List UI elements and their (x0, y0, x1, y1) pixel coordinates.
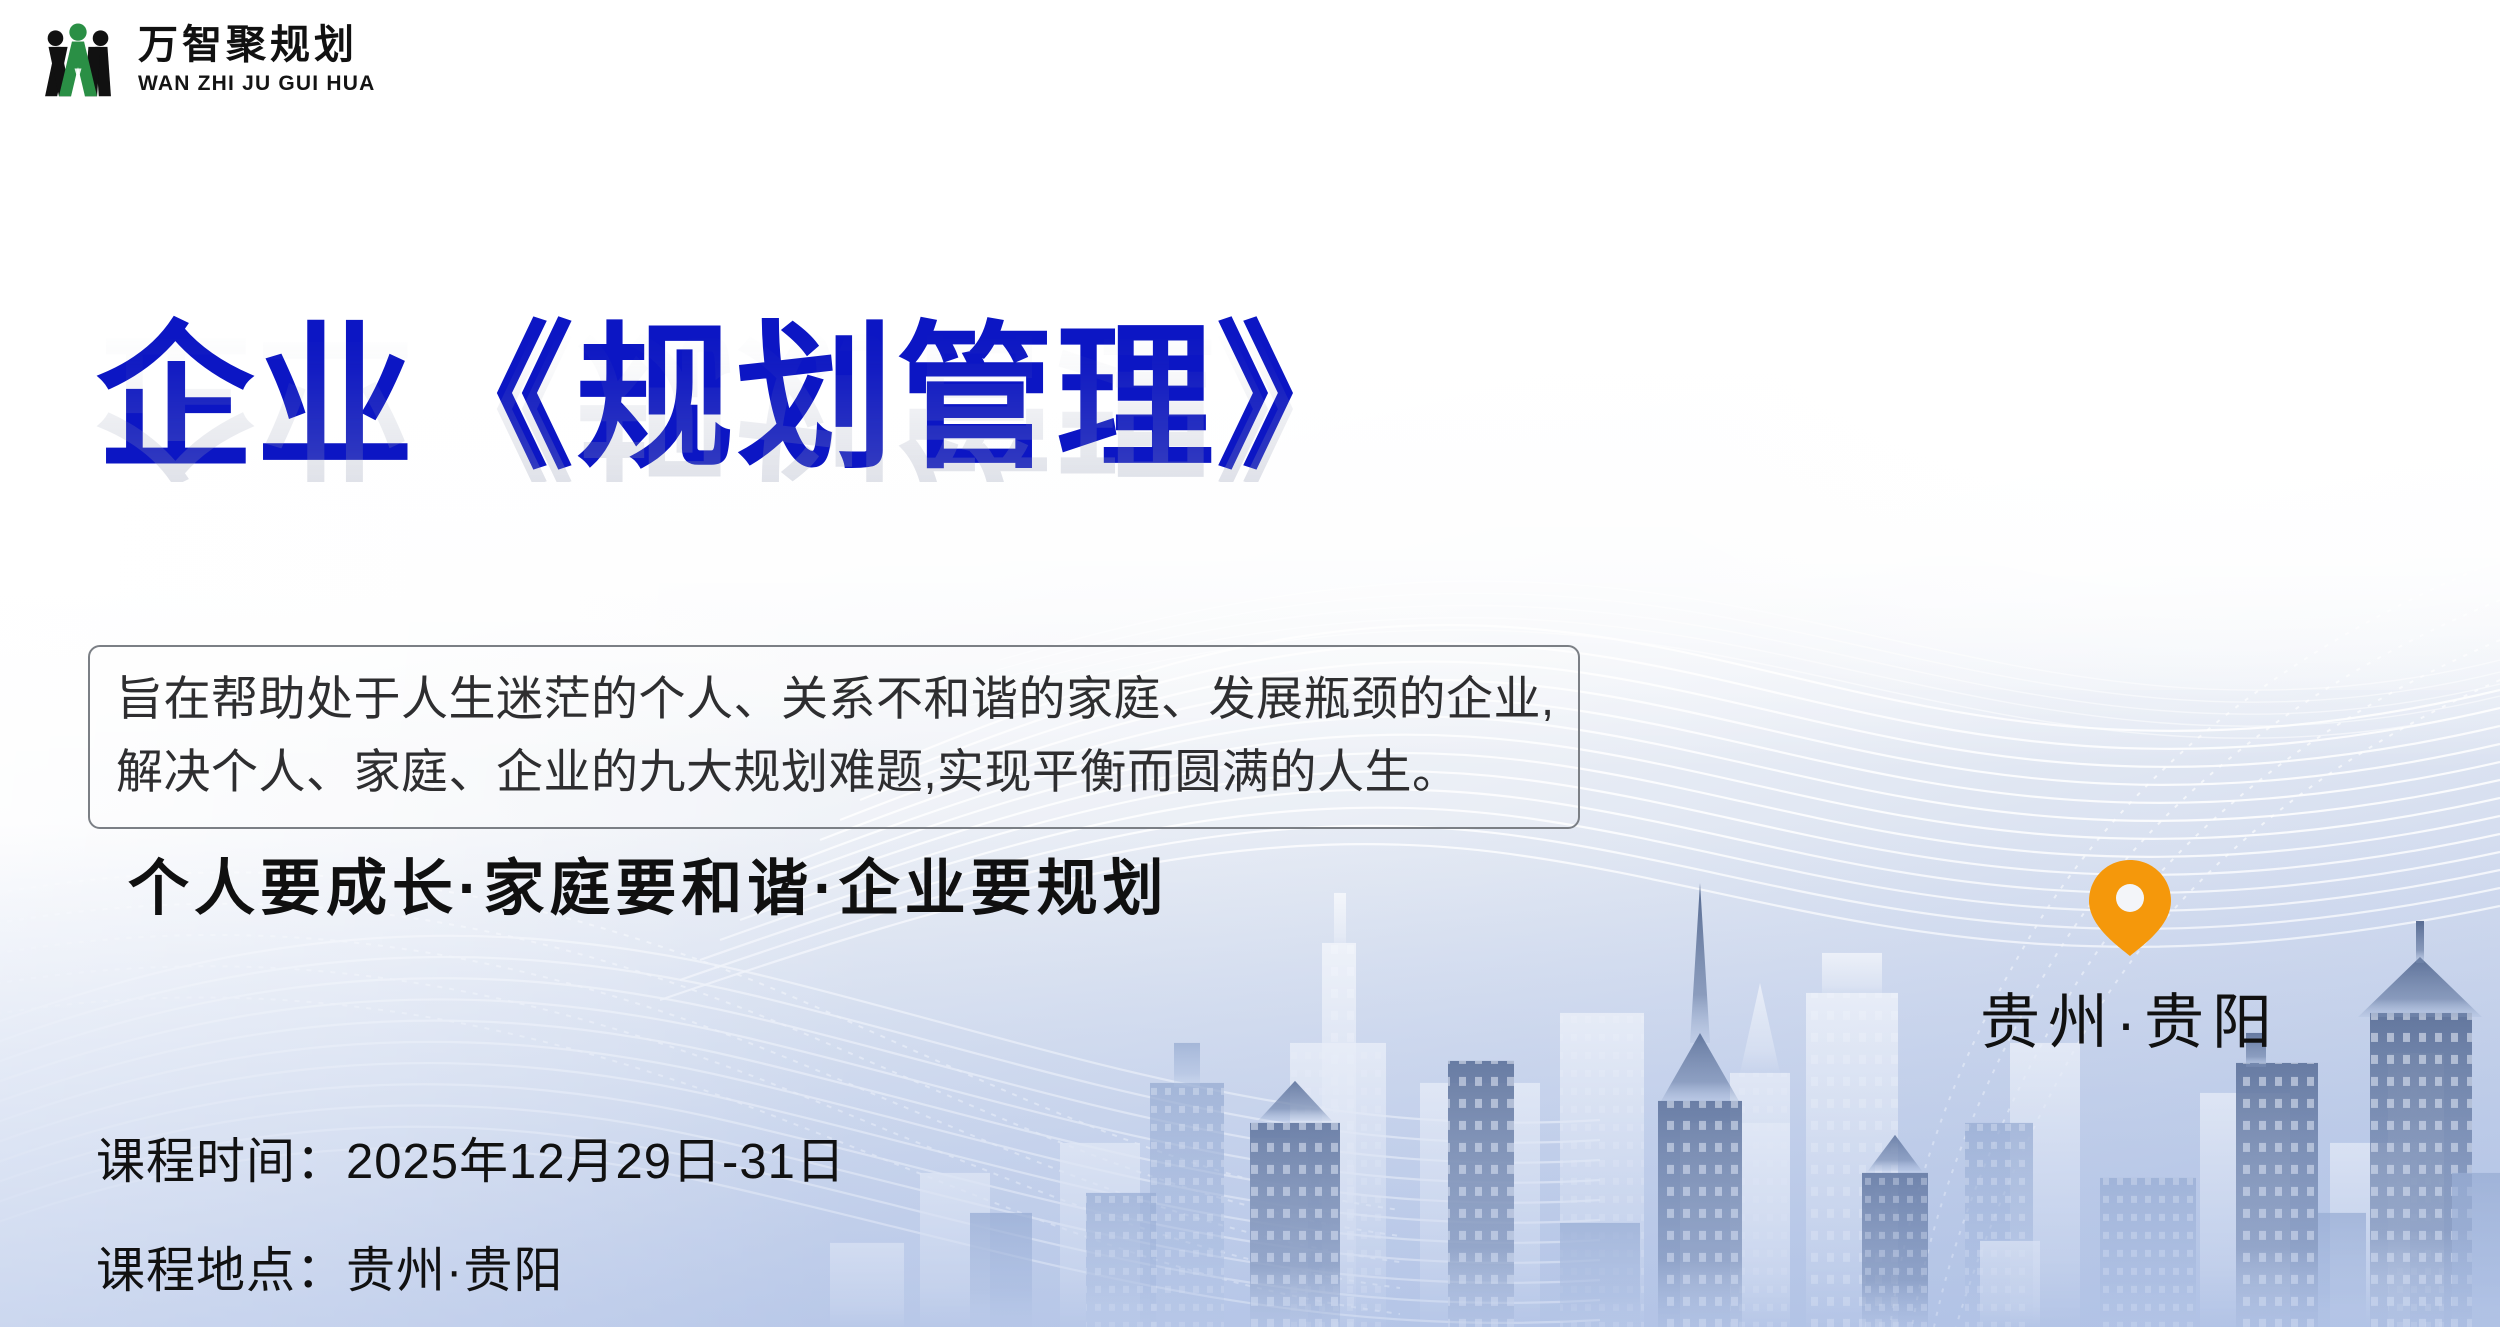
description-line-2: 解决个人、家庭、企业的九大规划难题,实现平衡而圆满的人生。 (116, 736, 1552, 809)
three-people-logo-icon (34, 20, 122, 98)
brand-name-en: WAN ZHI JU GUI HUA (138, 73, 375, 94)
location-label: 贵州·贵阳 (1980, 974, 2280, 1061)
hero-title-block: 企业《规划管理》 企业《规划管理》 (96, 320, 1376, 640)
course-place: 课程地点：贵州·贵阳 (96, 1231, 846, 1302)
brand-name-cn: 万智聚规划 (138, 25, 375, 65)
poster-canvas: 万智聚规划 WAN ZHI JU GUI HUA 企业《规划管理》 企业《规划管… (0, 0, 2500, 1327)
description-line-1: 旨在帮助处于人生迷茫的个人、关系不和谐的家庭、发展瓶颈的企业, (116, 663, 1552, 736)
map-pin-icon (2085, 858, 2175, 958)
page-title: 企业《规划管理》 (96, 320, 1376, 478)
location-block: 贵州·贵阳 (1940, 858, 2320, 1061)
tagline: 个人要成长·家庭要和谐·企业要规划 (128, 838, 1169, 927)
course-time: 课程时间：2025年12月29日-31日 (96, 1122, 846, 1193)
top-right-white-overlay (1350, 0, 2500, 690)
brand-logo: 万智聚规划 WAN ZHI JU GUI HUA (34, 20, 375, 98)
description-box: 旨在帮助处于人生迷茫的个人、关系不和谐的家庭、发展瓶颈的企业, 解决个人、家庭、… (88, 645, 1580, 829)
course-info-list: 课程时间：2025年12月29日-31日 课程地点：贵州·贵阳 (96, 1122, 846, 1302)
